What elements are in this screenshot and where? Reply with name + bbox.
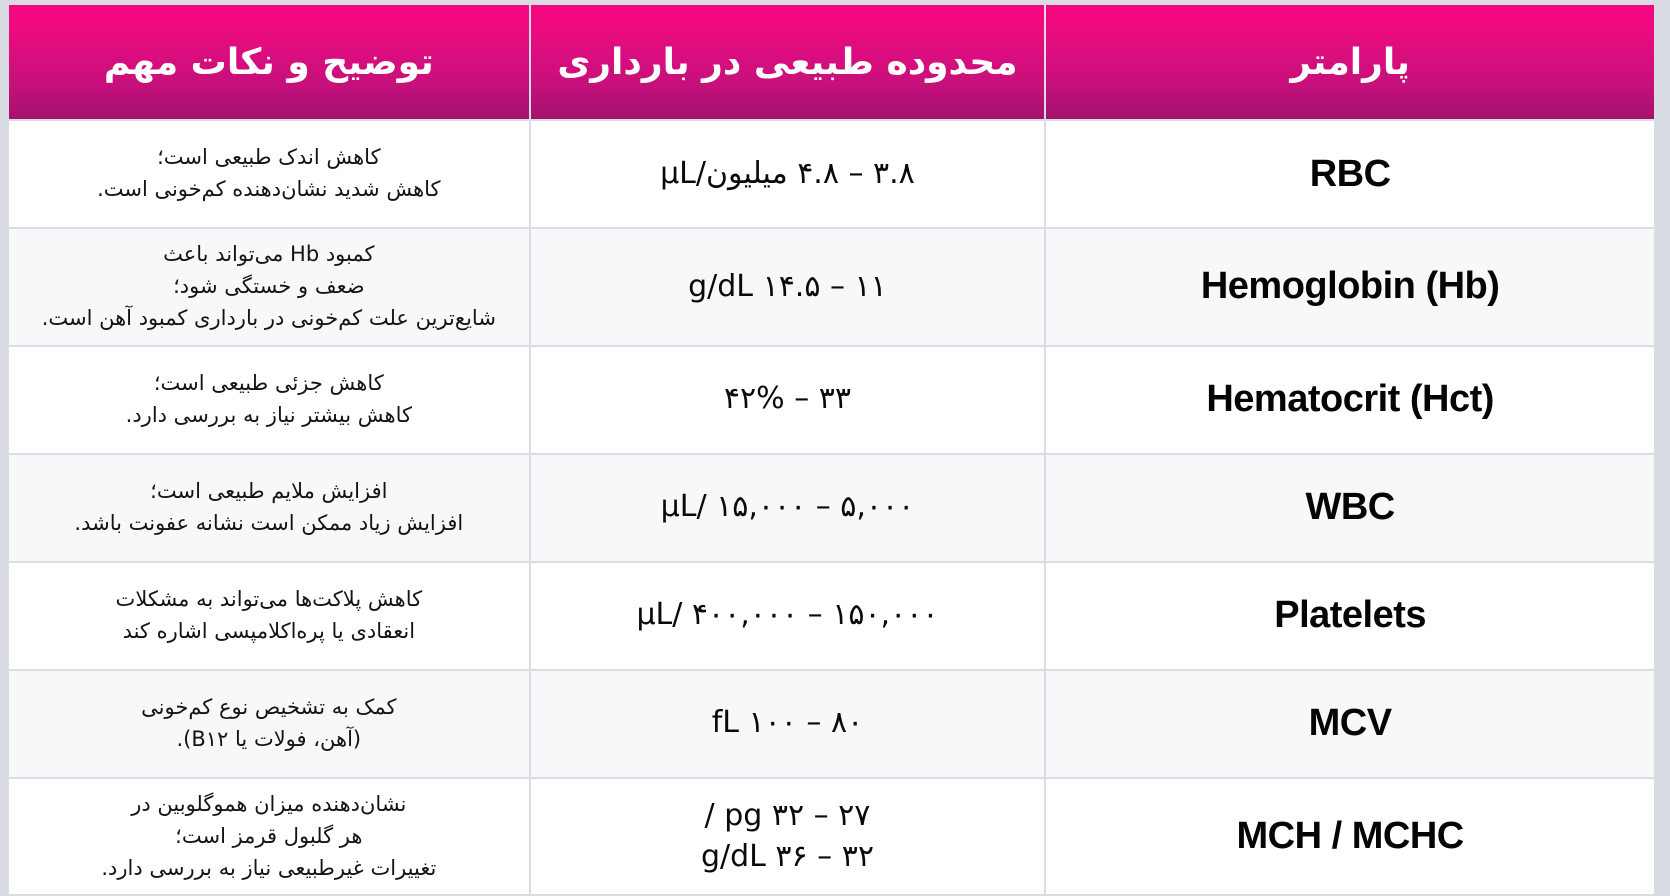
cell-normal-range: ۸۰ – ۱۰۰ fL xyxy=(531,671,1045,777)
cell-parameter: RBC xyxy=(1046,121,1654,227)
cell-parameter: WBC xyxy=(1046,455,1654,561)
cell-notes: کاهش جزئی طبیعی است؛ کاهش بیشتر نیاز به … xyxy=(9,347,529,453)
cbc-reference-table: پارامتر محدوده طبیعی در بارداری توضیح و … xyxy=(7,3,1656,896)
cell-notes: کاهش اندک طبیعی است؛ کاهش شدید نشان‌دهند… xyxy=(9,121,529,227)
table-row: Hemoglobin (Hb) ۱۱ – ۱۴.۵ g/dL کمبود Hb … xyxy=(9,229,1654,345)
notes-line: ضعف و خستگی شود؛ xyxy=(25,271,513,303)
notes-line: نشان‌دهنده میزان هموگلوبین در xyxy=(25,789,513,821)
notes-line: انعقادی یا پره‌اکلامپسی اشاره کند xyxy=(25,616,513,648)
table-row: WBC ۵,۰۰۰ – ۱۵,۰۰۰ /μL افزایش ملایم طبیع… xyxy=(9,455,1654,561)
cell-notes: افزایش ملایم طبیعی است؛ افزایش زیاد ممکن… xyxy=(9,455,529,561)
cell-parameter: MCV xyxy=(1046,671,1654,777)
range-line: ۳۳ – ۴۲% xyxy=(547,379,1029,420)
notes-line: شایع‌ترین علت کم‌خونی در بارداری کمبود آ… xyxy=(25,303,513,335)
column-header-notes: توضیح و نکات مهم xyxy=(9,5,529,119)
cell-notes: کاهش پلاکت‌ها می‌تواند به مشکلات انعقادی… xyxy=(9,563,529,669)
cell-parameter: Hemoglobin (Hb) xyxy=(1046,229,1654,345)
notes-line: کاهش جزئی طبیعی است؛ xyxy=(25,368,513,400)
notes-line: (آهن، فولات یا B۱۲). xyxy=(25,724,513,756)
table-row: Platelets ۱۵۰,۰۰۰ – ۴۰۰,۰۰۰ /μL کاهش پلا… xyxy=(9,563,1654,669)
notes-line: تغییرات غیرطبیعی نیاز به بررسی دارد. xyxy=(25,853,513,885)
cbc-reference-table-frame: پارامتر محدوده طبیعی در بارداری توضیح و … xyxy=(7,3,1656,887)
table-row: RBC ۳.۸ – ۴.۸ میلیون/μL کاهش اندک طبیعی … xyxy=(9,121,1654,227)
range-line: ۳.۸ – ۴.۸ میلیون/μL xyxy=(547,154,1029,195)
range-line: ۱۵۰,۰۰۰ – ۴۰۰,۰۰۰ /μL xyxy=(547,595,1029,636)
notes-line: کاهش بیشتر نیاز به بررسی دارد. xyxy=(25,400,513,432)
notes-line: کمک به تشخیص نوع کم‌خونی xyxy=(25,692,513,724)
cell-parameter: Hematocrit (Hct) xyxy=(1046,347,1654,453)
table-row: Hematocrit (Hct) ۳۳ – ۴۲% کاهش جزئی طبیع… xyxy=(9,347,1654,453)
cell-normal-range: ۱۱ – ۱۴.۵ g/dL xyxy=(531,229,1045,345)
range-line: ۵,۰۰۰ – ۱۵,۰۰۰ /μL xyxy=(547,487,1029,528)
notes-line: افزایش ملایم طبیعی است؛ xyxy=(25,476,513,508)
cell-normal-range: ۵,۰۰۰ – ۱۵,۰۰۰ /μL xyxy=(531,455,1045,561)
cell-normal-range: ۳.۸ – ۴.۸ میلیون/μL xyxy=(531,121,1045,227)
cell-normal-range: ۲۷ – ۳۲ pg / ۳۲ – ۳۶ g/dL xyxy=(531,779,1045,895)
cell-parameter: MCH / MCHC xyxy=(1046,779,1654,895)
notes-line: افزایش زیاد ممکن است نشانه عفونت باشد. xyxy=(25,508,513,540)
notes-line: هر گلبول قرمز است؛ xyxy=(25,821,513,853)
cell-notes: کمبود Hb می‌تواند باعث ضعف و خستگی شود؛ … xyxy=(9,229,529,345)
table-body: RBC ۳.۸ – ۴.۸ میلیون/μL کاهش اندک طبیعی … xyxy=(9,121,1654,894)
cell-normal-range: ۱۵۰,۰۰۰ – ۴۰۰,۰۰۰ /μL xyxy=(531,563,1045,669)
range-line: ۸۰ – ۱۰۰ fL xyxy=(547,703,1029,744)
table-header-row: پارامتر محدوده طبیعی در بارداری توضیح و … xyxy=(9,5,1654,119)
cell-notes: کمک به تشخیص نوع کم‌خونی (آهن، فولات یا … xyxy=(9,671,529,777)
cell-parameter: Platelets xyxy=(1046,563,1654,669)
column-header-parameter: پارامتر xyxy=(1046,5,1654,119)
notes-line: کمبود Hb می‌تواند باعث xyxy=(25,239,513,271)
cell-normal-range: ۳۳ – ۴۲% xyxy=(531,347,1045,453)
table-row: MCH / MCHC ۲۷ – ۳۲ pg / ۳۲ – ۳۶ g/dL نشا… xyxy=(9,779,1654,895)
table-row: MCV ۸۰ – ۱۰۰ fL کمک به تشخیص نوع کم‌خونی… xyxy=(9,671,1654,777)
cell-notes: نشان‌دهنده میزان هموگلوبین در هر گلبول ق… xyxy=(9,779,529,895)
notes-line: کاهش شدید نشان‌دهنده کم‌خونی است. xyxy=(25,174,513,206)
range-line: ۲۷ – ۳۲ pg / xyxy=(547,796,1029,837)
notes-line: کاهش اندک طبیعی است؛ xyxy=(25,142,513,174)
range-line: ۳۲ – ۳۶ g/dL xyxy=(547,837,1029,878)
column-header-normal-range: محدوده طبیعی در بارداری xyxy=(531,5,1045,119)
notes-line: کاهش پلاکت‌ها می‌تواند به مشکلات xyxy=(25,584,513,616)
range-line: ۱۱ – ۱۴.۵ g/dL xyxy=(547,267,1029,308)
table-header: پارامتر محدوده طبیعی در بارداری توضیح و … xyxy=(9,5,1654,119)
